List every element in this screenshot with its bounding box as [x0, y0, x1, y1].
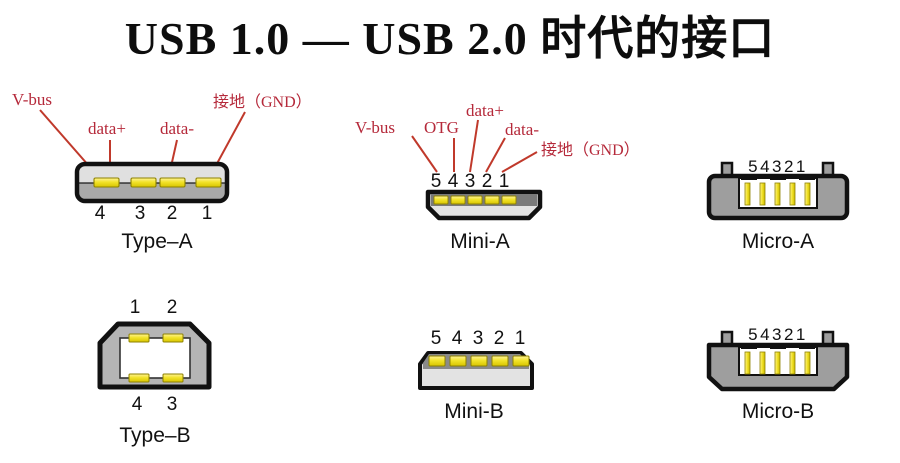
- pin-number-3: 3: [135, 203, 146, 224]
- pin-number-4: 4: [452, 328, 463, 349]
- connector-micro-a: 54321 Micro-A: [709, 157, 847, 253]
- pin-2: [160, 178, 185, 187]
- pin-number-3: 3: [465, 171, 476, 192]
- annotation-vbus: V-bus: [355, 118, 395, 137]
- leader-line-dataminus: [486, 138, 505, 172]
- pin-2: [790, 183, 795, 205]
- connector-label-micro-b: Micro-B: [742, 400, 814, 423]
- connector-mini-a: V-bus OTG data+ data- 接地（GND） 5 4 3 2 1: [355, 101, 640, 253]
- leader-line-gnd: [502, 152, 537, 172]
- receptacle-notch-right: [799, 176, 815, 180]
- pin-number-5: 5: [431, 328, 442, 349]
- usb-connector-diagram: V-bus data+ data- 接地（GND）: [0, 0, 900, 463]
- pin-number-3: 3: [473, 328, 484, 349]
- pin-number-1: 1: [499, 171, 510, 192]
- pin-numbers-micro-a: 54321: [748, 157, 808, 176]
- pin-number-1: 1: [202, 203, 213, 224]
- pin-2: [492, 356, 508, 366]
- leader-line-vbus: [412, 136, 437, 172]
- connector-mini-b: 5 4 3 2 1 Mini-B: [420, 328, 532, 423]
- pin-5: [745, 183, 750, 205]
- receptacle-notch-center: [770, 345, 786, 349]
- pin-number-2: 2: [494, 328, 505, 349]
- pin-numbers-micro-b: 54321: [748, 325, 808, 344]
- pin-5: [745, 352, 750, 374]
- pin-3: [471, 356, 487, 366]
- annotation-dataminus: data-: [505, 120, 539, 139]
- annotation-dataminus: data-: [160, 119, 194, 138]
- pin-number-4: 4: [132, 394, 143, 415]
- annotation-dataplus: data+: [466, 101, 504, 120]
- connector-label-mini-b: Mini-B: [444, 400, 504, 423]
- pin-1: [805, 352, 810, 374]
- pin-1: [196, 178, 221, 187]
- annotation-dataplus: data+: [88, 119, 126, 138]
- pin-5: [429, 356, 445, 366]
- receptacle-notch-left: [741, 176, 757, 180]
- connector-type-a: V-bus data+ data- 接地（GND）: [12, 90, 312, 253]
- pin-2: [163, 334, 183, 342]
- pin-3: [775, 183, 780, 205]
- type-b-receptacle: [120, 338, 190, 378]
- connector-label-type-a: Type–A: [121, 230, 192, 253]
- diagram-canvas: USB 1.0 — USB 2.0 时代的接口: [0, 0, 900, 463]
- annotation-gnd: 接地（GND）: [213, 93, 312, 111]
- pin-5: [434, 196, 448, 204]
- pin-4: [760, 352, 765, 374]
- connector-label-mini-a: Mini-A: [450, 230, 510, 253]
- pin-number-5: 5: [431, 171, 442, 192]
- pin-number-4: 4: [95, 203, 106, 224]
- pin-1: [129, 334, 149, 342]
- connector-label-type-b: Type–B: [119, 424, 190, 447]
- annotation-gnd: 接地（GND）: [541, 141, 640, 159]
- pin-1: [513, 356, 529, 366]
- annotation-vbus: V-bus: [12, 90, 52, 109]
- pin-number-2: 2: [167, 297, 178, 318]
- pin-3: [468, 196, 482, 204]
- mini-b-pins: [429, 356, 529, 366]
- pin-4: [129, 374, 149, 382]
- leader-line-dataplus: [470, 120, 478, 172]
- pin-2: [790, 352, 795, 374]
- pin-4: [760, 183, 765, 205]
- pin-3: [775, 352, 780, 374]
- pin-4: [450, 356, 466, 366]
- mini-a-pins: [434, 196, 516, 204]
- pin-3: [131, 178, 156, 187]
- pin-1: [805, 183, 810, 205]
- pin-2: [485, 196, 499, 204]
- pin-4: [451, 196, 465, 204]
- pin-number-4: 4: [448, 171, 459, 192]
- pin-number-1: 1: [130, 297, 141, 318]
- pin-number-2: 2: [482, 171, 493, 192]
- connector-micro-b: 54321 Micro-B: [709, 325, 847, 423]
- receptacle-notch-right: [799, 345, 815, 349]
- annotation-otg: OTG: [424, 118, 459, 137]
- pin-number-3: 3: [167, 394, 178, 415]
- pin-4: [94, 178, 119, 187]
- pin-number-1: 1: [515, 328, 526, 349]
- pin-1: [502, 196, 516, 204]
- connector-type-b: 1 2 4 3 Type–B: [100, 297, 209, 447]
- receptacle-notch-center: [770, 176, 786, 180]
- pin-3: [163, 374, 183, 382]
- receptacle-notch-left: [741, 345, 757, 349]
- pin-number-2: 2: [167, 203, 178, 224]
- connector-label-micro-a: Micro-A: [742, 230, 814, 253]
